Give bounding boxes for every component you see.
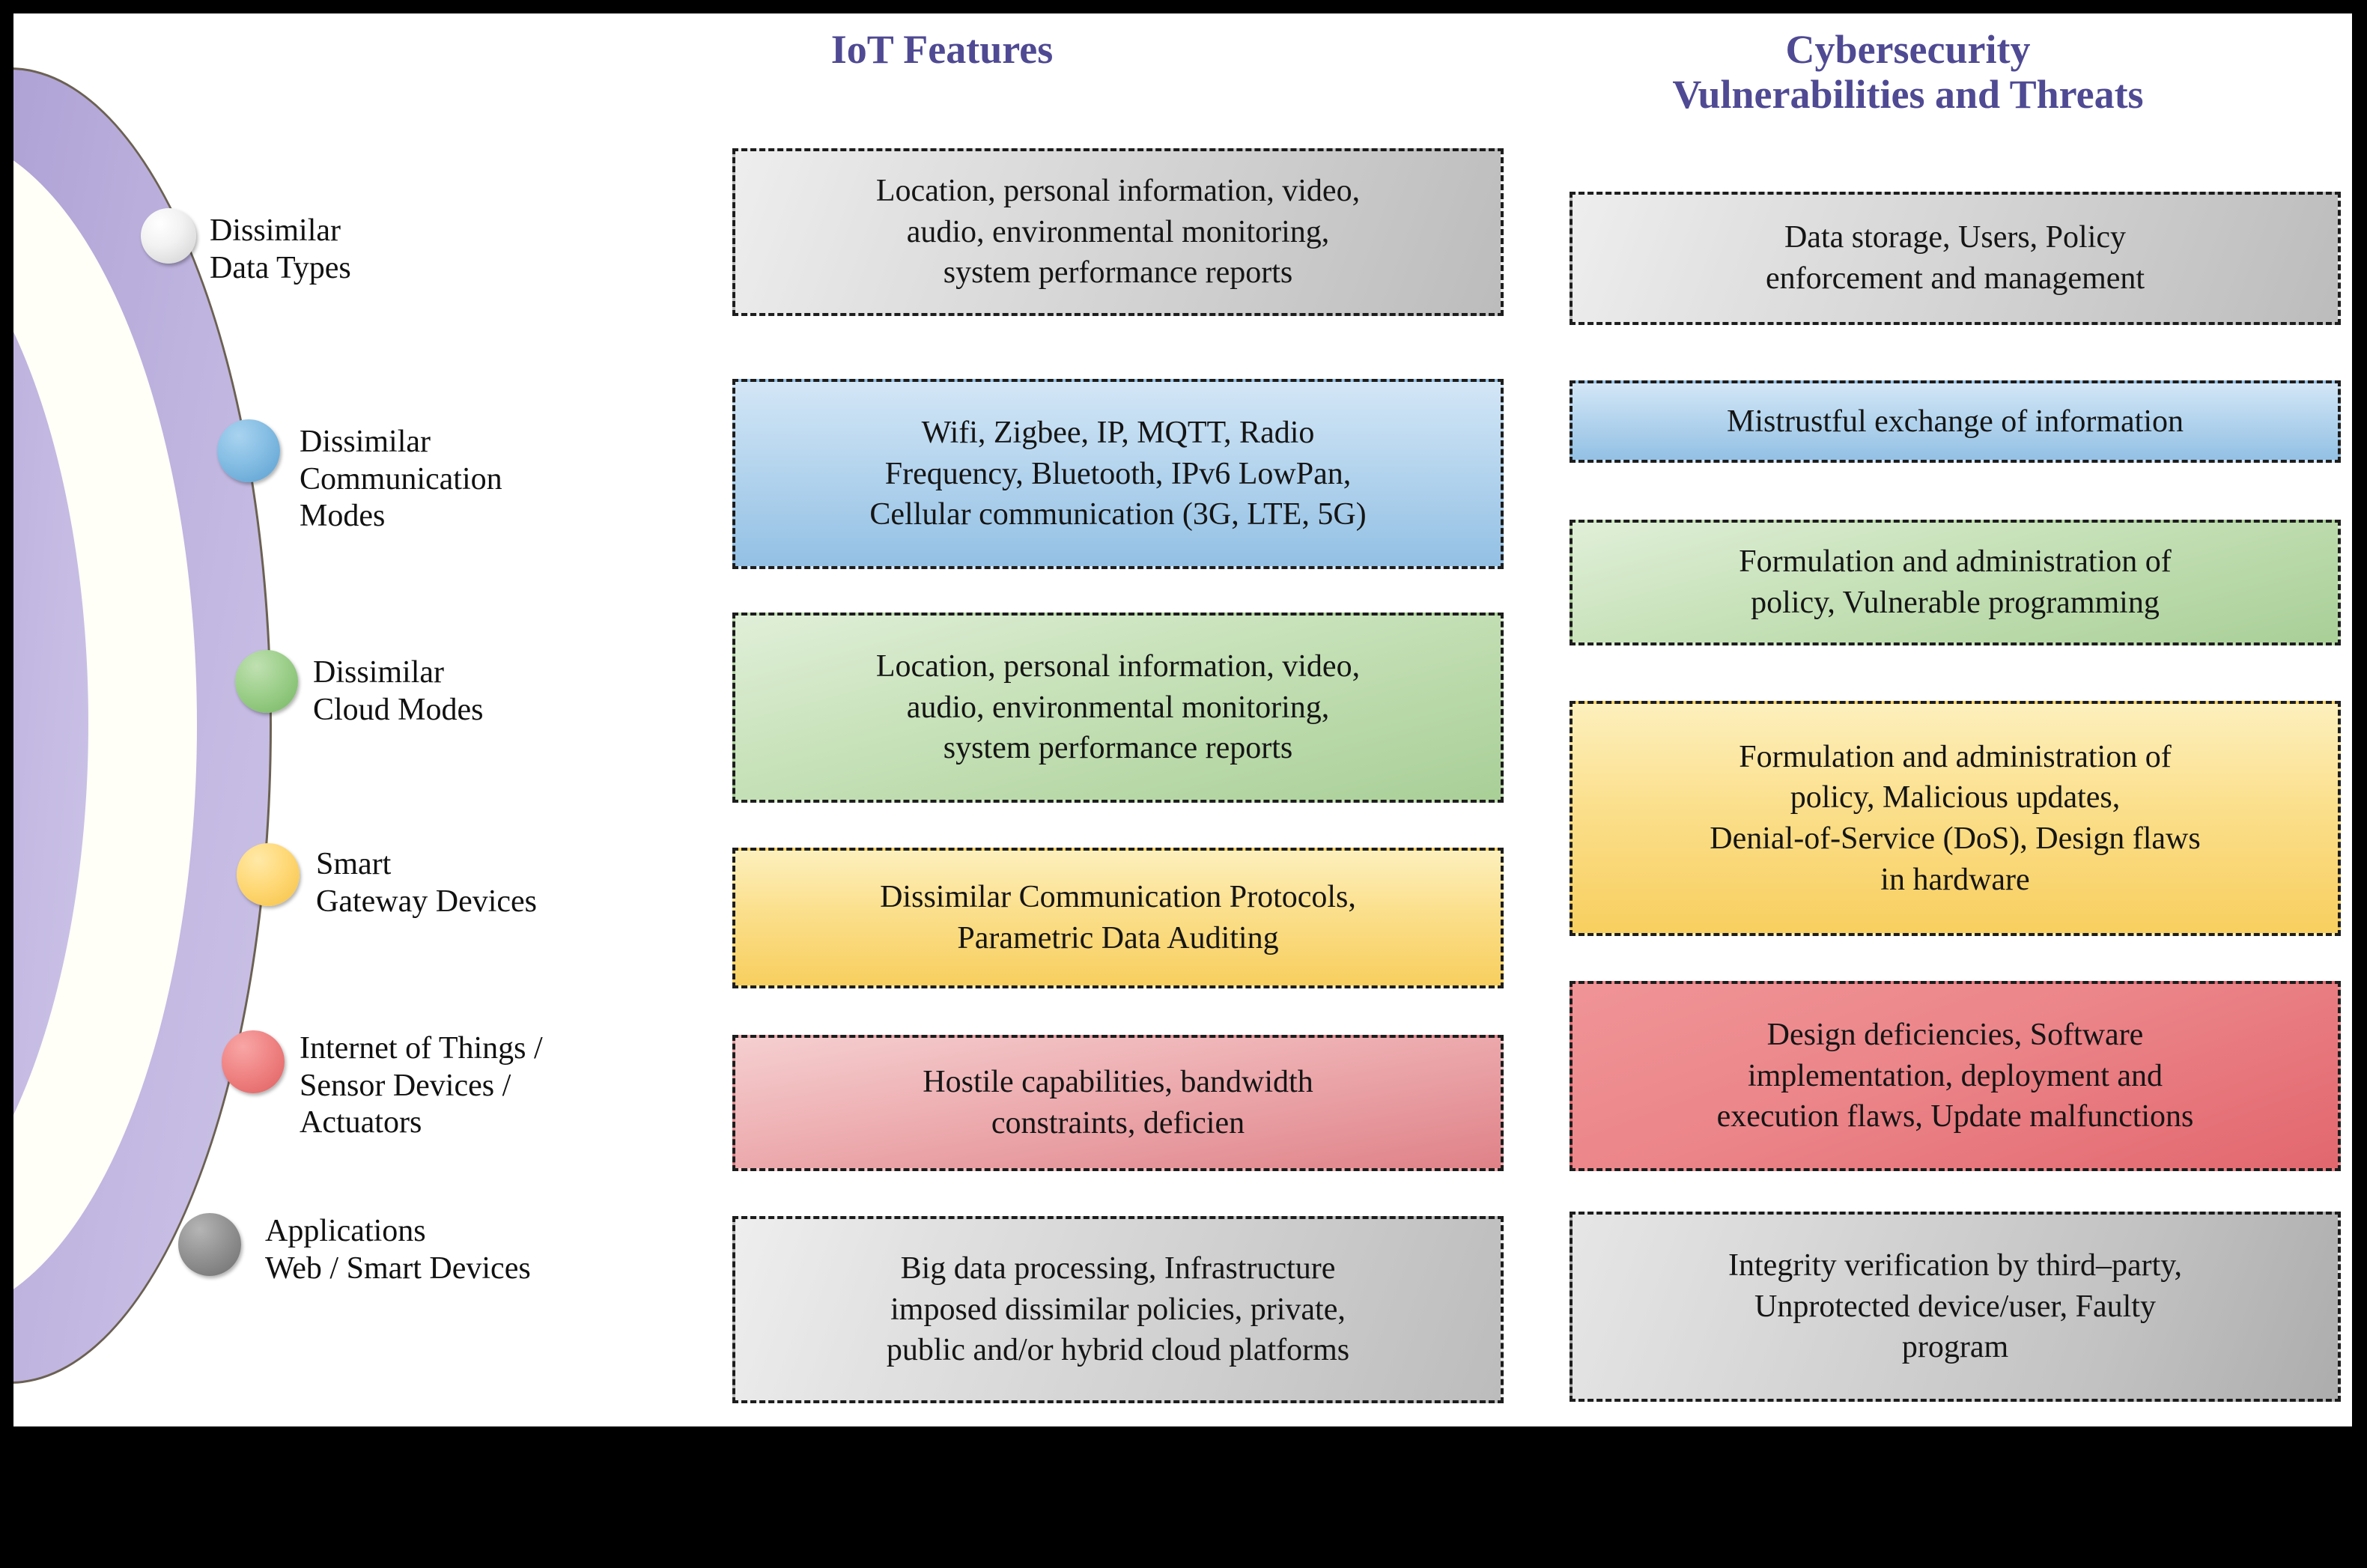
layer-node-applications[interactable]: [178, 1213, 241, 1276]
threat-card-applications[interactable]: Integrity verification by third–party, U…: [1570, 1212, 2341, 1402]
layer-label-iot-sensors: Internet of Things / Sensor Devices / Ac…: [300, 1030, 543, 1142]
layer-label-applications: Applications Web / Smart Devices: [265, 1213, 531, 1287]
layer-node-iot-sensors[interactable]: [222, 1030, 285, 1093]
layer-node-data-types[interactable]: [141, 208, 196, 264]
iot-feature-card-data-types[interactable]: Location, personal information, video, a…: [732, 148, 1504, 316]
layer-node-communication[interactable]: [217, 419, 280, 482]
layer-label-cloud: Dissimilar Cloud Modes: [313, 654, 484, 729]
threat-card-communication[interactable]: Mistrustful exchange of information: [1570, 380, 2341, 463]
threat-card-data-types[interactable]: Data storage, Users, Policy enforcement …: [1570, 192, 2341, 325]
iot-feature-card-gateway[interactable]: Dissimilar Communication Protocols, Para…: [732, 848, 1504, 988]
iot-feature-card-communication[interactable]: Wifi, Zigbee, IP, MQTT, Radio Frequency,…: [732, 379, 1504, 569]
iot-feature-card-applications[interactable]: Big data processing, Infrastructure impo…: [732, 1216, 1504, 1403]
layer-node-gateway[interactable]: [237, 843, 300, 906]
threat-card-gateway[interactable]: Formulation and administration of policy…: [1570, 701, 2341, 936]
layer-label-data-types: Dissimilar Data Types: [210, 213, 351, 287]
iot-feature-card-sensors[interactable]: Hostile capabilities, bandwidth constrai…: [732, 1035, 1504, 1171]
iot-feature-card-cloud[interactable]: Location, personal information, video, a…: [732, 613, 1504, 803]
layer-label-communication: Dissimilar Communication Modes: [300, 424, 502, 535]
layer-label-gateway: Smart Gateway Devices: [316, 846, 537, 920]
layer-node-cloud[interactable]: [235, 650, 298, 713]
column-title-cybersecurity: Cybersecurity Vulnerabilities and Threat…: [1504, 27, 2312, 118]
column-title-iot-features: IoT Features: [725, 27, 1159, 72]
threat-card-sensors[interactable]: Design deficiencies, Software implementa…: [1570, 981, 2341, 1171]
diagram-canvas: Dissimilar Data Types Dissimilar Communi…: [13, 13, 2352, 1426]
image-frame: Dissimilar Data Types Dissimilar Communi…: [0, 0, 2367, 1568]
threat-card-cloud[interactable]: Formulation and administration of policy…: [1570, 520, 2341, 645]
